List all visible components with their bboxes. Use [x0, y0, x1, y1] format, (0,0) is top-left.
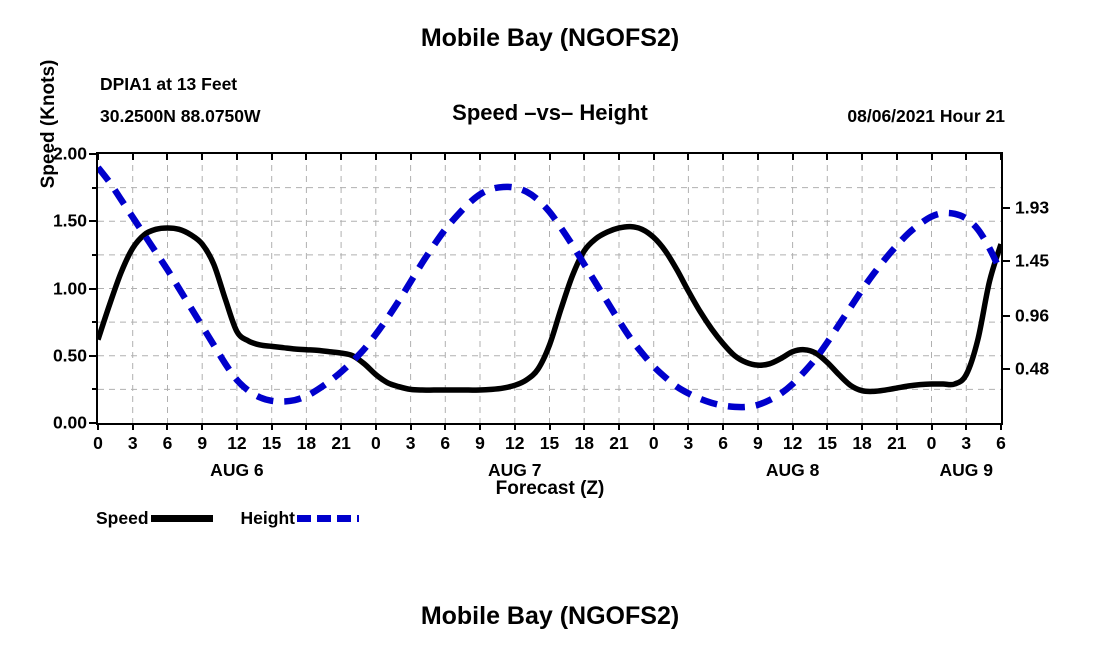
y-axis-left-tick-mark: [89, 288, 98, 290]
x-axis-tick-mark: [514, 423, 516, 430]
x-axis-tick-mark: [305, 423, 307, 430]
x-axis-tick-label: 0: [649, 433, 659, 454]
top-axis-tick-mark: [340, 154, 342, 160]
y-axis-left-tick-label: 1.00: [53, 278, 87, 299]
y-axis-left-tick-label: 2.00: [53, 144, 87, 165]
x-axis-tick-label: 6: [163, 433, 173, 454]
station-label: DPIA1 at 13 Feet: [100, 74, 237, 95]
top-axis-tick-mark: [722, 154, 724, 160]
x-axis-tick-label: 15: [818, 433, 837, 454]
x-axis-tick-label: 12: [783, 433, 802, 454]
top-axis-tick-mark: [653, 154, 655, 160]
x-axis-tick-label: 15: [262, 433, 281, 454]
x-axis-tick-label: 0: [927, 433, 937, 454]
y-axis-right-tick-mark: [1001, 315, 1010, 317]
x-axis-tick-mark: [583, 423, 585, 430]
y-axis-left-minor-tick-mark: [92, 388, 98, 390]
top-axis-tick-mark: [514, 154, 516, 160]
x-axis-tick-mark: [444, 423, 446, 430]
x-axis-tick-mark: [792, 423, 794, 430]
x-axis-tick-label: 6: [718, 433, 728, 454]
top-axis-tick-mark: [375, 154, 377, 160]
series-lines: [98, 154, 1001, 423]
x-axis-tick-label: 6: [440, 433, 450, 454]
x-axis-tick-mark: [687, 423, 689, 430]
top-axis-tick-mark: [305, 154, 307, 160]
x-axis-tick-label: 18: [574, 433, 593, 454]
x-axis-tick-mark: [722, 423, 724, 430]
y-axis-left-minor-tick-mark: [92, 254, 98, 256]
top-axis-tick-mark: [965, 154, 967, 160]
x-axis-tick-label: 3: [961, 433, 971, 454]
x-axis-tick-mark: [410, 423, 412, 430]
page-title-bottom: Mobile Bay (NGOFS2): [0, 602, 1100, 631]
y-axis-right-tick-label: 1.45: [1015, 251, 1049, 272]
top-axis-tick-mark: [132, 154, 134, 160]
top-axis-tick-mark: [583, 154, 585, 160]
legend-label-height: Height: [241, 508, 295, 529]
y-axis-left-tick-mark: [89, 220, 98, 222]
page-title-top: Mobile Bay (NGOFS2): [0, 24, 1100, 53]
legend-swatch-height-icon: [297, 515, 359, 522]
x-axis-tick-label: 3: [128, 433, 138, 454]
x-axis-tick-mark: [271, 423, 273, 430]
x-axis-tick-label: 9: [753, 433, 763, 454]
chart-legend: Speed Height: [96, 508, 387, 529]
x-axis-tick-label: 12: [227, 433, 246, 454]
legend-swatch-speed-icon: [151, 515, 213, 522]
top-axis-tick-mark: [931, 154, 933, 160]
x-axis-tick-mark: [931, 423, 933, 430]
x-axis-tick-label: 9: [475, 433, 485, 454]
top-axis-tick-mark: [236, 154, 238, 160]
top-axis-tick-mark: [1000, 154, 1002, 160]
top-axis-tick-mark: [792, 154, 794, 160]
top-axis-tick-mark: [896, 154, 898, 160]
x-axis-title: Forecast (Z): [0, 478, 1100, 500]
y-axis-right-tick-label: 1.93: [1015, 197, 1049, 218]
x-axis-tick-mark: [826, 423, 828, 430]
top-axis-tick-mark: [410, 154, 412, 160]
x-axis-tick-mark: [132, 423, 134, 430]
legend-label-speed: Speed: [96, 508, 149, 529]
x-axis-tick-mark: [653, 423, 655, 430]
x-axis-tick-label: 21: [609, 433, 628, 454]
top-axis-tick-mark: [479, 154, 481, 160]
x-axis-tick-mark: [340, 423, 342, 430]
x-axis-tick-mark: [861, 423, 863, 430]
x-axis-tick-label: 12: [505, 433, 524, 454]
y-axis-left-tick-label: 0.50: [53, 345, 87, 366]
x-axis-tick-mark: [618, 423, 620, 430]
y-axis-right-tick-mark: [1001, 207, 1010, 209]
x-axis-tick-mark: [236, 423, 238, 430]
y-axis-right-tick-mark: [1001, 260, 1010, 262]
y-axis-left-tick-label: 1.50: [53, 211, 87, 232]
top-axis-tick-mark: [97, 154, 99, 160]
x-axis-tick-mark: [201, 423, 203, 430]
top-axis-tick-mark: [618, 154, 620, 160]
top-axis-tick-mark: [444, 154, 446, 160]
x-axis-tick-mark: [965, 423, 967, 430]
x-axis-tick-label: 15: [540, 433, 559, 454]
y-axis-right-tick-mark: [1001, 368, 1010, 370]
x-axis-tick-label: 3: [684, 433, 694, 454]
top-axis-tick-mark: [201, 154, 203, 160]
y-axis-right-tick-label: 0.96: [1015, 305, 1049, 326]
x-axis-tick-label: 0: [371, 433, 381, 454]
x-axis-tick-label: 21: [887, 433, 906, 454]
x-axis-tick-mark: [757, 423, 759, 430]
x-axis-tick-mark: [549, 423, 551, 430]
top-axis-tick-mark: [687, 154, 689, 160]
issued-datetime-label: 08/06/2021 Hour 21: [847, 106, 1005, 127]
top-axis-tick-mark: [861, 154, 863, 160]
top-axis-tick-mark: [826, 154, 828, 160]
x-axis-tick-mark: [97, 423, 99, 430]
y-axis-right-tick-label: 0.48: [1015, 359, 1049, 380]
x-axis-tick-mark: [166, 423, 168, 430]
x-axis-tick-label: 6: [996, 433, 1006, 454]
top-axis-tick-mark: [549, 154, 551, 160]
legend-item-speed: Speed: [96, 508, 241, 529]
x-axis-tick-mark: [896, 423, 898, 430]
x-axis-tick-mark: [375, 423, 377, 430]
y-axis-left-minor-tick-mark: [92, 187, 98, 189]
plot-area: Speed (Knots) Height (feet) 0.000.501.00…: [96, 152, 1003, 425]
legend-item-height: Height: [241, 508, 387, 529]
top-axis-tick-mark: [166, 154, 168, 160]
x-axis-tick-label: 0: [93, 433, 103, 454]
x-axis-tick-mark: [479, 423, 481, 430]
x-axis-tick-label: 18: [852, 433, 871, 454]
top-axis-tick-mark: [271, 154, 273, 160]
x-axis-tick-mark: [1000, 423, 1002, 430]
top-axis-tick-mark: [757, 154, 759, 160]
x-axis-tick-label: 21: [331, 433, 350, 454]
chart-page: Mobile Bay (NGOFS2) DPIA1 at 13 Feet 30.…: [0, 0, 1100, 650]
x-axis-tick-label: 9: [197, 433, 207, 454]
y-axis-left-tick-mark: [89, 355, 98, 357]
x-axis-tick-label: 3: [406, 433, 416, 454]
y-axis-left-minor-tick-mark: [92, 321, 98, 323]
plot-inner: [98, 154, 1001, 423]
x-axis-tick-label: 18: [297, 433, 316, 454]
y-axis-left-tick-label: 0.00: [53, 413, 87, 434]
